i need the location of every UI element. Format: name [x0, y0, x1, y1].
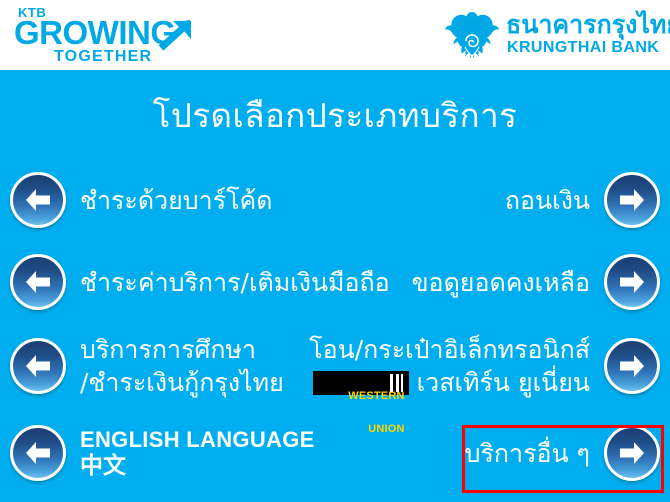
menu-item-label-english: ENGLISH LANGUAGE [80, 427, 315, 453]
garuda-emblem-icon [444, 10, 500, 60]
menu-item-label-group: โอน/กระเป๋าอิเล็กทรอนิกส์ WESTERNUNION เ… [309, 333, 590, 399]
menu-item-label-line2: /ชำระเงินกู้กรุงไทย [80, 368, 284, 397]
krungthai-bank-logo: ธนาคารกรุงไทย KRUNGTHAI BANK [444, 10, 654, 62]
menu-item-pay-by-barcode[interactable]: ชำระด้วยบาร์โค้ด [10, 172, 273, 228]
menu-item-label-line1: บริการการศึกษา [80, 335, 256, 364]
arrow-right-icon[interactable] [604, 425, 660, 481]
header-bar: KTB GROWING TOGETHER [0, 0, 670, 70]
western-union-line: WESTERNUNION เวสเทิร์น ยูเนี่ยน [309, 366, 590, 399]
page-title: โปรดเลือกประเภทบริการ [0, 96, 670, 136]
atm-screen: KTB GROWING TOGETHER [0, 0, 670, 502]
menu-row-4: ENGLISH LANGUAGE 中文 บริการอื่น ๆ [0, 425, 670, 495]
western-union-logo-icon: WESTERNUNION [313, 371, 409, 395]
menu-item-education-loan-payment[interactable]: บริการการศึกษา /ชำระเงินกู้กรุงไทย [10, 333, 284, 399]
ktb-growing-together-logo: KTB GROWING TOGETHER [14, 6, 214, 64]
menu-item-label: ถอนเงิน [505, 184, 590, 217]
western-union-bars-icon [390, 374, 404, 392]
menu-item-label: ชำระค่าบริการ/เติมเงินมือถือ [80, 266, 390, 299]
menu-item-label-group: ENGLISH LANGUAGE 中文 [80, 427, 315, 480]
menu-item-label-line1: โอน/กระเป๋าอิเล็กทรอนิกส์ [309, 335, 590, 364]
menu-item-label-line2: เวสเทิร์น ยูเนี่ยน [417, 366, 590, 399]
growth-arrow-icon [157, 18, 199, 54]
menu-item-label-chinese: 中文 [80, 453, 315, 480]
bank-name-thai: ธนาคารกรุงไทย [506, 10, 670, 40]
arrow-right-icon[interactable] [604, 254, 660, 310]
menu-item-english-language[interactable]: ENGLISH LANGUAGE 中文 [10, 425, 315, 481]
ktb-logo-sub-text: TOGETHER [54, 49, 152, 65]
menu-item-label-group: บริการการศึกษา /ชำระเงินกู้กรุงไทย [80, 333, 284, 399]
arrow-left-icon[interactable] [10, 254, 66, 310]
menu-item-label: บริการอื่น ๆ [465, 437, 590, 470]
menu-item-check-balance[interactable]: ขอดูยอดคงเหลือ [411, 254, 660, 310]
menu-row-3: บริการการศึกษา /ชำระเงินกู้กรุงไทย โอน/ก… [0, 333, 670, 419]
menu-row-2: ชำระค่าบริการ/เติมเงินมือถือ ขอดูยอดคงเห… [0, 254, 670, 320]
menu-item-withdraw-cash[interactable]: ถอนเงิน [505, 172, 660, 228]
ktb-logo-main-text: GROWING [14, 16, 175, 50]
menu-item-label: ขอดูยอดคงเหลือ [411, 266, 590, 299]
bank-name-english: KRUNGTHAI BANK [507, 39, 659, 57]
arrow-left-icon[interactable] [10, 338, 66, 394]
arrow-right-icon[interactable] [604, 172, 660, 228]
arrow-left-icon[interactable] [10, 425, 66, 481]
menu-item-transfer-ewallet-western-union[interactable]: โอน/กระเป๋าอิเล็กทรอนิกส์ WESTERNUNION เ… [309, 333, 660, 399]
arrow-left-icon[interactable] [10, 172, 66, 228]
menu-item-pay-bills-mobile-topup[interactable]: ชำระค่าบริการ/เติมเงินมือถือ [10, 254, 390, 310]
menu-row-1: ชำระด้วยบาร์โค้ด ถอนเงิน [0, 172, 670, 238]
arrow-right-icon[interactable] [604, 338, 660, 394]
menu-item-other-services[interactable]: บริการอื่น ๆ [465, 425, 660, 481]
menu-item-label: ชำระด้วยบาร์โค้ด [80, 184, 273, 217]
